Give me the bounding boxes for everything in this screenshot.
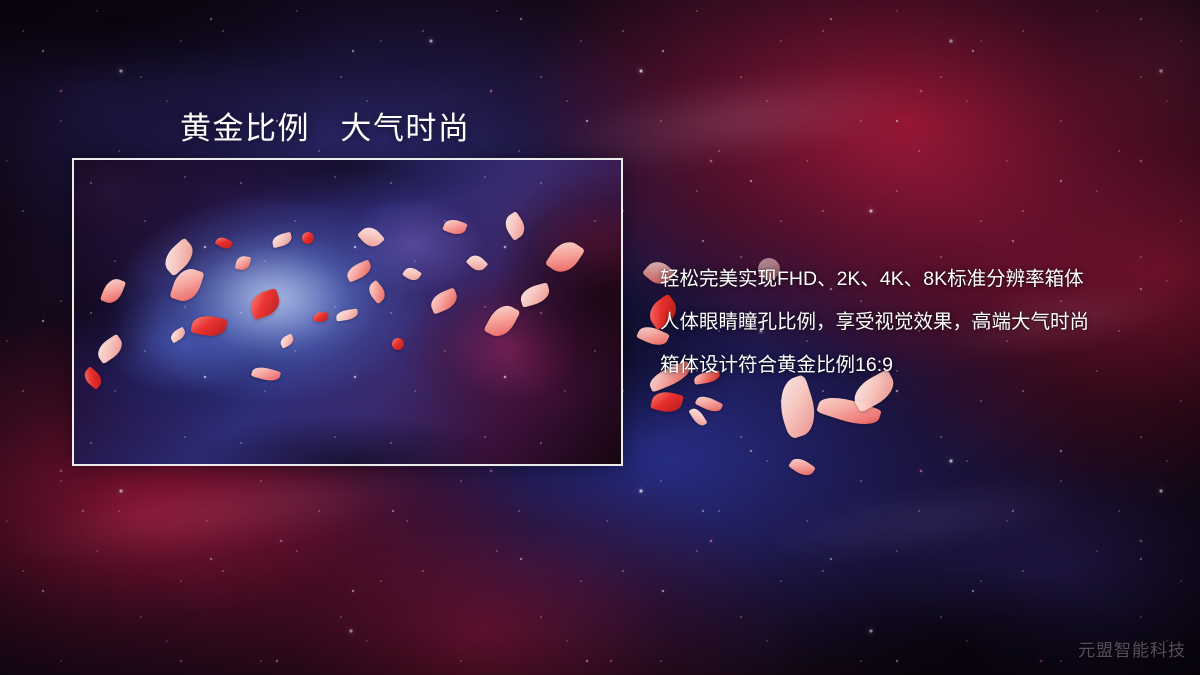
image-content	[74, 160, 621, 464]
watermark: 元盟智能科技	[1078, 636, 1186, 661]
body-line-2: 人体眼睛瞳孔比例，享受视觉效果，高端大气时尚	[660, 301, 1190, 344]
page-title: 黄金比例 大气时尚	[180, 103, 470, 148]
body-line-1: 轻松完美实现FHD、2K、4K、8K标准分辨率箱体	[660, 258, 1190, 301]
petal	[392, 338, 404, 350]
petal	[302, 232, 314, 244]
framed-image	[72, 158, 623, 466]
presentation-slide: 黄金比例 大气时尚	[0, 0, 1200, 675]
body-text-block: 轻松完美实现FHD、2K、4K、8K标准分辨率箱体 人体眼睛瞳孔比例，享受视觉效…	[660, 258, 1190, 387]
body-line-3: 箱体设计符合黄金比例16:9	[660, 344, 1190, 387]
